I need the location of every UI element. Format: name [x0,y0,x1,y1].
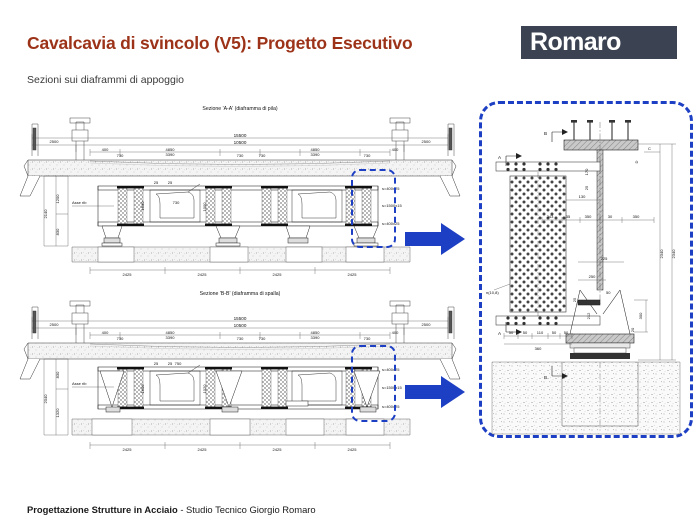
axis-label: Asse rib [72,200,87,205]
dim-bay-1: 730 [117,336,124,341]
detail-panel-canvas: A B A B 2340 2340 C D 130 343 35 350 30 … [482,104,690,435]
plate-label-0: s=400x25 [382,186,400,191]
panel-dim-170: 170 [584,168,589,175]
dim-bay-8: 730 [364,153,371,158]
romaro-logo: Romaro [521,26,677,59]
panel-dim-343: 343 [547,214,554,219]
dim-bay-9: 400 [392,147,399,152]
footer-rest: - Studio Tecnico Giorgio Romaro [178,504,316,515]
dim-overall-1: 15500 [234,133,247,138]
panel-dim-350a: 350 [585,214,592,219]
section-marker-a-bottom: A [498,331,502,336]
panel-dim-total-1: 2340 [659,249,664,259]
footer: Progettazione Strutture in Acciaio - Stu… [27,504,316,515]
plate-label-0: s=400x25 [382,367,400,372]
detail-dim-0: 25 [154,361,159,366]
dim-vert-2: 1320 [55,408,60,418]
plate-label-2: s=400x25 [382,404,400,409]
panel-dim-130: 130 [579,194,586,199]
dim-edge-right: 2500 [422,139,432,144]
dim-base-2: 2425 [273,447,283,452]
dim-base-3: 2425 [348,272,358,277]
dim-edge-left: 2500 [50,139,60,144]
page-title: Cavalcavia di svincolo (V5): Progetto Es… [27,33,412,54]
drawing-sezione-aa: Sezione 'A-A' (diaframma di pila) [10,104,470,284]
dim-bay-9: 400 [392,330,399,335]
dim-bay-5: 730 [259,336,266,341]
detail-dim-3: 1630 [140,201,145,211]
drawing-sezione-bb: Sezione 'B-B' (diaframma di spalla) [10,289,470,457]
plate-label-2: s=400x25 [382,221,400,226]
panel-dim-350b: 350 [633,214,640,219]
plate-label-1: s=1500x15 [382,385,402,390]
panel-dim-50: 50 [606,290,611,295]
dim-vert-1: 830 [55,371,60,378]
detail-dim-4: 1020 [202,384,207,394]
dim-bay-7: 3390 [311,335,321,340]
dim-bay-5: 730 [259,153,266,158]
dim-base-0: 2425 [123,272,133,277]
section-marker-b-top: B [544,131,547,136]
dim-base-1: 2425 [198,447,208,452]
detail-panel: A B A B 2340 2340 C D 130 343 35 350 30 … [479,101,693,438]
drawing-title-aa: Sezione 'A-A' (diaframma di pila) [10,106,470,112]
footer-bold: Progettazione Strutture in Acciaio [27,504,178,515]
detail-arrow-top [405,222,467,256]
dim-base-0: 2425 [123,447,133,452]
panel-dim-25: 25 [572,297,577,302]
panel-bolt-sp-0: 50 [509,330,514,335]
panel-bolt-note: n(10,8) [486,290,499,295]
section-marker-a-top: A [498,155,502,160]
dim-bay-0: 400 [102,147,109,152]
logo-text: Romaro [530,30,621,55]
section-marker-b-bottom: B [544,375,547,380]
axis-label: Asse rib [72,381,87,386]
dim-bay-1: 730 [117,153,124,158]
panel-dim-small: 20 [630,327,635,332]
detail-dim-4: 1000 [202,202,207,212]
panel-marker-d: D [634,160,639,163]
dim-base-2: 2425 [273,272,283,277]
drawing-title-bb: Sezione 'B-B' (diaframma di spalla) [10,291,470,297]
panel-dim-total-2: 2340 [671,249,676,259]
dim-vert-0: 2140 [43,209,48,219]
drawing-canvas-aa: 15500 10500 2500 2500 400 730 4850 3390 … [10,104,470,284]
panel-dim-30: 30 [608,214,613,219]
panel-dim-212: 212 [586,312,591,319]
dim-edge-right: 2500 [422,322,432,327]
dim-base-1: 2425 [198,272,208,277]
dim-edge-left: 2500 [50,322,60,327]
detail-dim-0: 25 [154,180,159,185]
panel-bolt-sp-2: 110 [537,330,544,335]
dim-overall-2: 10500 [234,323,247,328]
panel-dim-300: 300 [638,312,643,319]
dim-vert-0: 2040 [43,394,48,404]
detail-arrow-bottom [405,375,467,409]
dim-bay-7: 3390 [311,152,321,157]
dim-bay-3: 3390 [166,152,176,157]
detail-dim-1: 25 [168,180,173,185]
dim-vert-1: 1200 [55,194,60,204]
dim-bay-8: 730 [364,336,371,341]
detail-dim-2: 750 [175,361,182,366]
panel-dim-35: 35 [566,214,571,219]
dim-overall-1: 15500 [234,316,247,321]
panel-bolt-sp-3: 50 [552,330,557,335]
panel-bolt-sp-4: 50 [564,330,569,335]
panel-marker-c: C [648,146,651,151]
page-subtitle: Sezioni sui diaframmi di appoggio [27,74,184,86]
dim-bay-4: 730 [237,336,244,341]
dim-base-3: 2425 [348,447,358,452]
dim-bay-0: 400 [102,330,109,335]
dim-bay-3: 3390 [166,335,176,340]
panel-dim-25b: 25 [584,185,589,190]
panel-dim-225: 225 [601,256,608,261]
detail-dim-1: 25 [168,361,173,366]
panel-bolt-sp-1: 50 [523,330,528,335]
panel-dim-360: 360 [535,346,542,351]
dim-vert-2: 830 [55,228,60,235]
drawing-canvas-bb: 15500 10500 2500 2500 400 730 4850 3390 … [10,289,470,457]
detail-dim-3: 1600 [140,384,145,394]
detail-dim-2: 730 [173,200,180,205]
panel-dim-250: 250 [589,274,596,279]
plate-label-1: s=1500x15 [382,203,402,208]
dim-bay-4: 730 [237,153,244,158]
dim-overall-2: 10500 [234,140,247,145]
